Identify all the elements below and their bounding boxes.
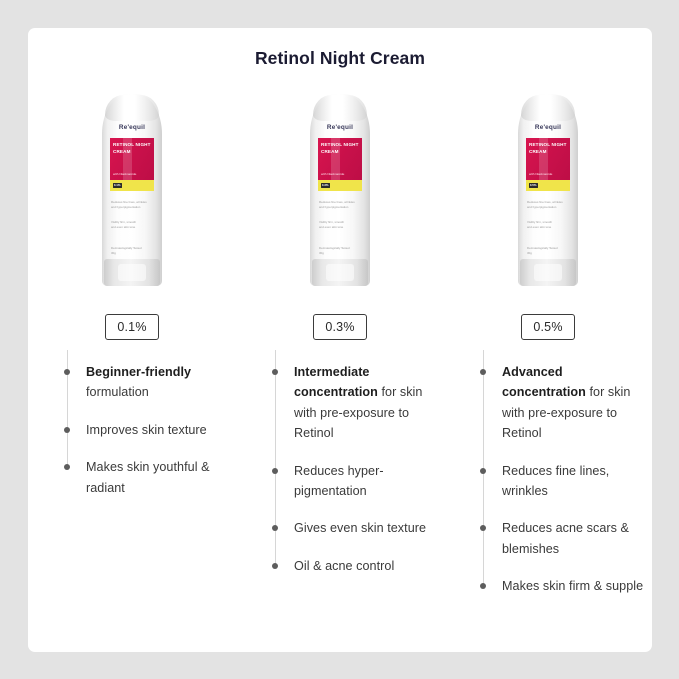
feature-text: Improves skin texture [86,423,207,437]
concentration-strip: 0.3% [318,180,362,191]
feature-text: Reduces hyper-pigmentation [294,464,384,498]
feature-emphasis: Intermediate concentration [294,365,378,399]
tube-concentration-chip: 0.5% [529,183,538,188]
label-title: RETINOL NIGHT CREAM [321,142,359,155]
tube-shoulder [313,95,367,121]
comparison-column: Re'equilRETINOL NIGHT CREAMwith Niacinam… [444,86,652,646]
concentration-strip: 0.1% [110,180,154,191]
tube-fine-print: Visibly firm, smooth and even skin tone [319,220,355,231]
concentration-strip: 0.5% [526,180,570,191]
feature-text: Gives even skin texture [294,521,426,535]
bullet-dot-icon [272,525,278,531]
tube-fine-print: Dermatologically Tested 30g [319,246,355,257]
concentration-badge[interactable]: 0.3% [313,314,367,340]
tube-fine-print: Visibly firm, smooth and even skin tone [111,220,147,231]
feature-text: Oil & acne control [294,559,394,573]
bullet-dot-icon [480,369,486,375]
tube-fine-print: Reduces fine lines, wrinkles and hyperpi… [319,200,355,211]
feature-item: Makes skin youthful & radiant [62,457,228,498]
brand-name: Re'equil [102,124,162,131]
feature-list: Advanced concentration for skin with pre… [444,362,652,597]
feature-item: Beginner-friendly formulation [62,362,228,403]
tube-concentration-chip: 0.1% [113,183,122,188]
brand-name: Re'equil [310,124,370,131]
comparison-columns: Re'equilRETINOL NIGHT CREAMwith Niacinam… [28,86,652,646]
bullet-dot-icon [272,468,278,474]
label-title: RETINOL NIGHT CREAM [529,142,567,155]
product-label: RETINOL NIGHT CREAMwith Niacinamide [110,138,154,180]
label-subtitle: with Niacinamide [113,172,151,176]
bullet-dot-icon [64,464,70,470]
tube-shoulder [521,95,575,121]
product-label: RETINOL NIGHT CREAMwith Niacinamide [526,138,570,180]
bullet-dot-icon [64,427,70,433]
bullet-dot-icon [480,583,486,589]
brand-name: Re'equil [518,124,578,131]
tube-fine-print: Visibly firm, smooth and even skin tone [527,220,563,231]
tube-cap [520,259,576,286]
feature-emphasis: Advanced concentration [502,365,586,399]
page-title: Retinol Night Cream [28,48,652,69]
cream-tube: Re'equilRETINOL NIGHT CREAMwith Niacinam… [102,94,162,286]
feature-text: Reduces fine lines, wrinkles [502,464,609,498]
feature-item: Reduces fine lines, wrinkles [478,461,644,502]
feature-item: Intermediate concentration for skin with… [270,362,436,444]
feature-text: formulation [86,385,149,399]
feature-text: Reduces acne scars & blemishes [502,521,629,555]
content-card: Retinol Night Cream Re'equilRETINOL NIGH… [28,28,652,652]
feature-text: Makes skin firm & supple [502,579,643,593]
product-image: Re'equilRETINOL NIGHT CREAMwith Niacinam… [28,94,236,294]
feature-item: Gives even skin texture [270,518,436,538]
concentration-badge[interactable]: 0.5% [521,314,575,340]
tube-fine-print: Reduces fine lines, wrinkles and hyperpi… [527,200,563,211]
comparison-column: Re'equilRETINOL NIGHT CREAMwith Niacinam… [28,86,236,646]
label-subtitle: with Niacinamide [321,172,359,176]
tube-cap [104,259,160,286]
feature-text: Makes skin youthful & radiant [86,460,210,494]
feature-list: Beginner-friendly formulationImproves sk… [28,362,236,498]
product-label: RETINOL NIGHT CREAMwith Niacinamide [318,138,362,180]
cream-tube: Re'equilRETINOL NIGHT CREAMwith Niacinam… [518,94,578,286]
comparison-column: Re'equilRETINOL NIGHT CREAMwith Niacinam… [236,86,444,646]
tube-fine-print: Dermatologically Tested 30g [111,246,147,257]
tube-cap [312,259,368,286]
label-subtitle: with Niacinamide [529,172,567,176]
label-title: RETINOL NIGHT CREAM [113,142,151,155]
feature-item: Oil & acne control [270,556,436,576]
tube-fine-print: Reduces fine lines, wrinkles and hyperpi… [111,200,147,211]
feature-item: Reduces acne scars & blemishes [478,518,644,559]
feature-emphasis: Beginner-friendly [86,365,191,379]
bullet-dot-icon [480,525,486,531]
feature-list: Intermediate concentration for skin with… [236,362,444,576]
bullet-dot-icon [272,563,278,569]
bullet-dot-icon [480,468,486,474]
feature-item: Reduces hyper-pigmentation [270,461,436,502]
infographic-canvas: Retinol Night Cream Re'equilRETINOL NIGH… [0,0,679,679]
concentration-badge[interactable]: 0.1% [105,314,159,340]
bullet-dot-icon [272,369,278,375]
tube-concentration-chip: 0.3% [321,183,330,188]
cream-tube: Re'equilRETINOL NIGHT CREAMwith Niacinam… [310,94,370,286]
product-image: Re'equilRETINOL NIGHT CREAMwith Niacinam… [444,94,652,294]
feature-item: Improves skin texture [62,420,228,440]
product-image: Re'equilRETINOL NIGHT CREAMwith Niacinam… [236,94,444,294]
tube-fine-print: Dermatologically Tested 30g [527,246,563,257]
feature-item: Advanced concentration for skin with pre… [478,362,644,444]
bullet-dot-icon [64,369,70,375]
feature-item: Makes skin firm & supple [478,576,644,596]
tube-shoulder [105,95,159,121]
